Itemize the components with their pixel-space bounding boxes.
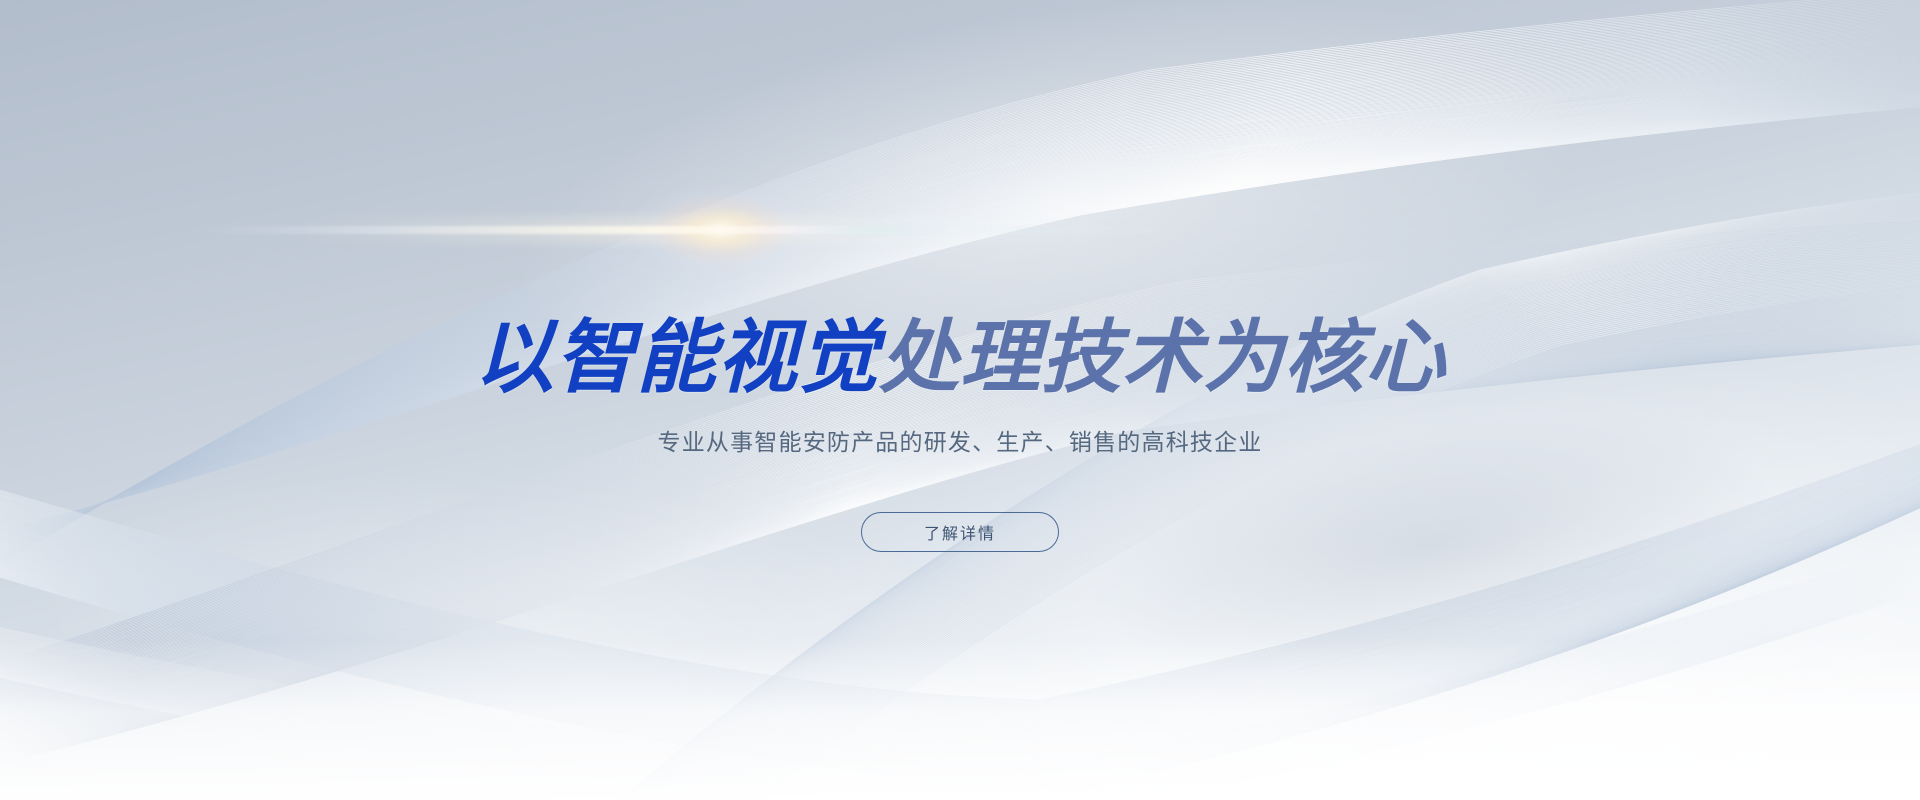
page-title: 以智能视觉处理技术为核心 xyxy=(0,316,1920,399)
hero-subtitle: 专业从事智能安防产品的研发、生产、销售的高科技企业 xyxy=(0,423,1920,457)
hero-banner: 以智能视觉处理技术为核心 专业从事智能安防产品的研发、生产、销售的高科技企业 了… xyxy=(0,0,1920,800)
headline-strong-part: 以智能视觉 xyxy=(474,311,879,404)
learn-more-button[interactable]: 了解详情 xyxy=(861,512,1059,552)
cta-container: 了解详情 xyxy=(0,512,1920,552)
headline-soft-part: 处理技术为核心 xyxy=(879,311,1446,404)
hero-content: 以智能视觉处理技术为核心 专业从事智能安防产品的研发、生产、销售的高科技企业 了… xyxy=(0,0,1920,800)
